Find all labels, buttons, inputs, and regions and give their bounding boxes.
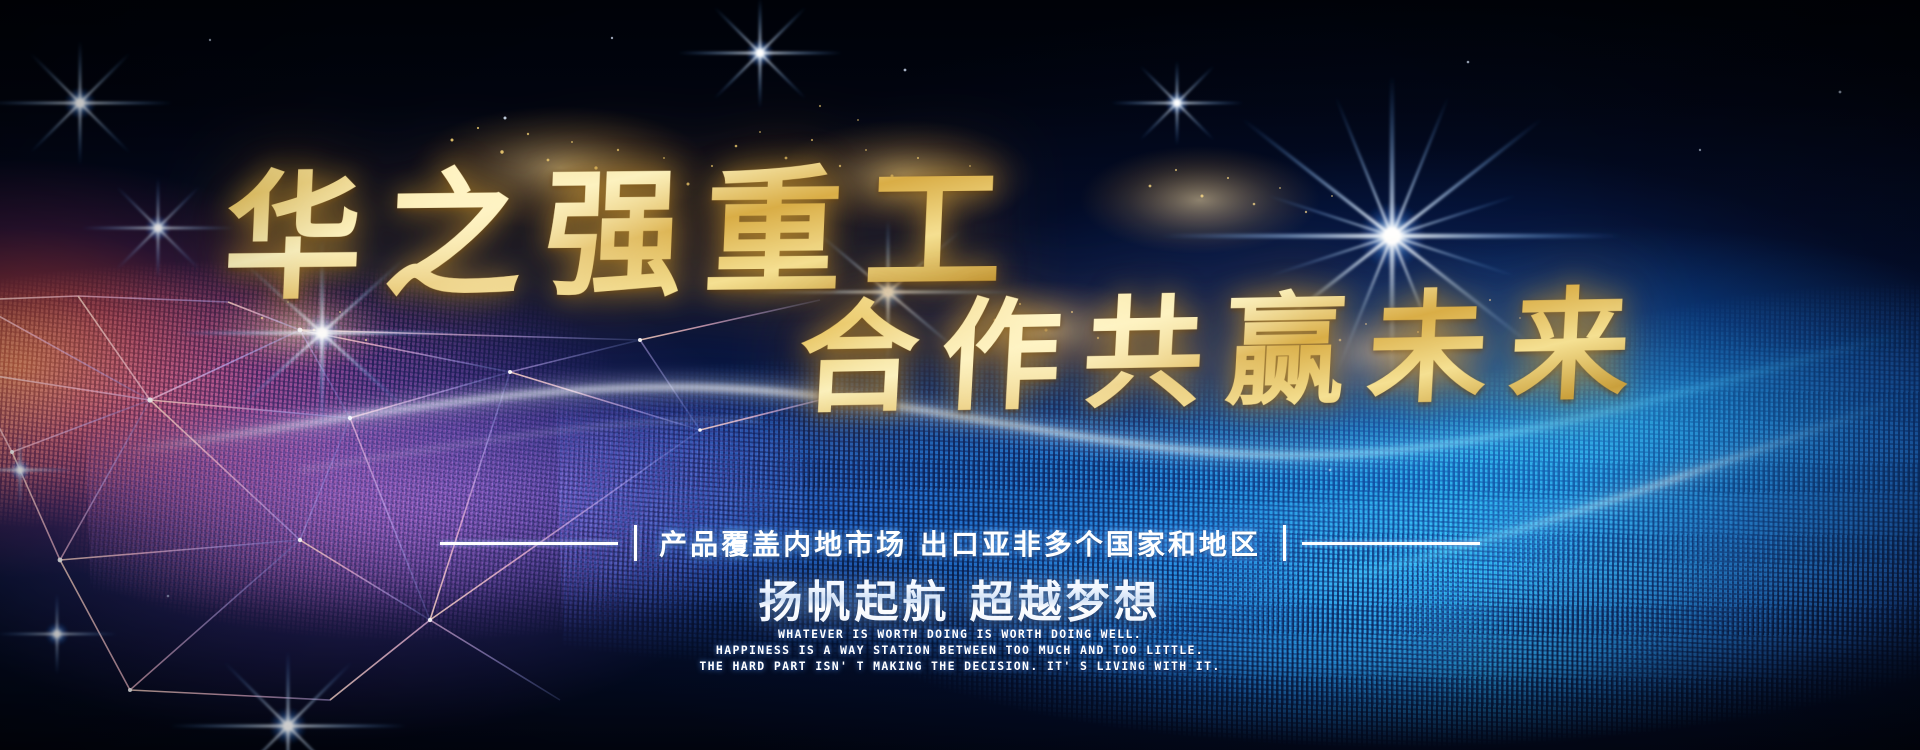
star-flare-top-left xyxy=(678,0,842,108)
star-flare-group xyxy=(0,0,1920,750)
star-flare-top-right xyxy=(1111,61,1243,145)
star-flare-upper-left xyxy=(0,41,172,165)
star-flare-bottom-left xyxy=(0,594,117,674)
star-flare-mid-left xyxy=(177,241,467,425)
star-flare-left-low xyxy=(82,178,234,278)
star-flare-large xyxy=(1162,76,1622,396)
star-flare-left-mid xyxy=(0,434,74,506)
promotional-banner: 华之强重工 合作共赢未来 产品覆盖内地市场 出口亚非多个国家和地区 扬帆起航 超… xyxy=(0,0,1920,750)
star-flare-small-center xyxy=(758,220,1018,364)
star-flare-bottom-center xyxy=(170,652,406,750)
sparkle-dots xyxy=(167,37,1842,598)
